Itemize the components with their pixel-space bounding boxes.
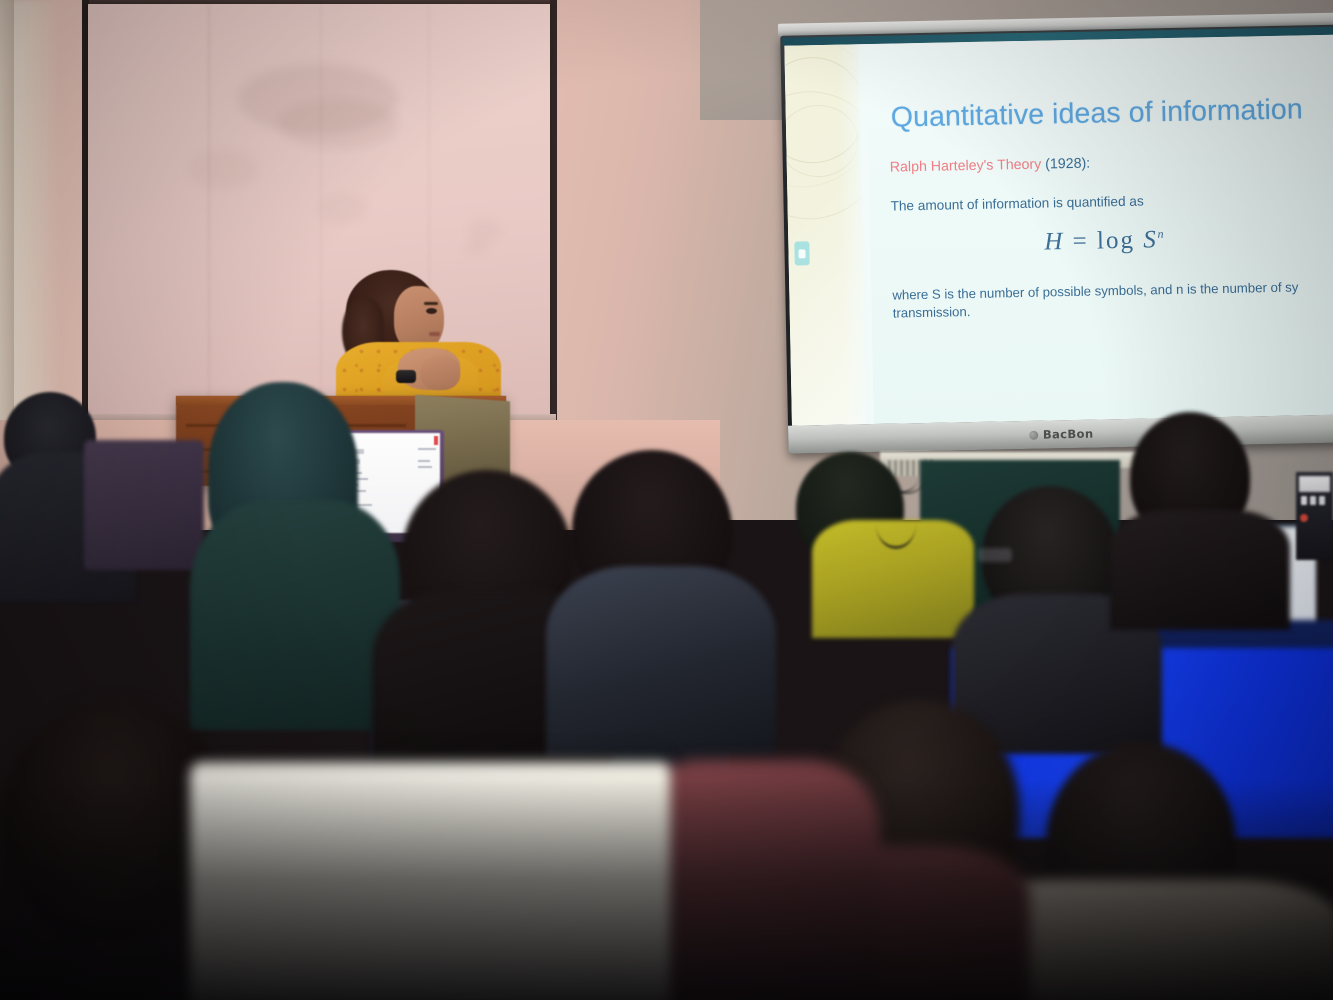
presenter-eye	[426, 308, 437, 314]
photo-canvas: Quantitative ideas of information Ralph …	[0, 0, 1333, 1000]
slide-attribution-highlight: Ralph Harteley's Theory	[890, 157, 1042, 176]
slide-where-line-2: transmission.	[893, 304, 971, 321]
presenter-brow	[424, 302, 438, 305]
slide-attribution-year: (1928):	[1041, 156, 1090, 173]
presenter-hand-upper	[420, 356, 460, 390]
mini-screen-header	[1299, 476, 1330, 492]
slide-intro-line: The amount of information is quantified …	[890, 194, 1143, 214]
slide-attribution: Ralph Harteley's Theory (1928):	[890, 156, 1091, 176]
slide-where-line-1: where S is the number of possible symbol…	[892, 276, 1333, 305]
chair-back-left	[84, 440, 204, 570]
student-body-hijab	[190, 500, 400, 730]
formula-base: S	[1143, 226, 1158, 253]
circle-logo-icon	[1029, 430, 1038, 439]
formula-operator: =	[1072, 228, 1089, 255]
panel-toggle-icon[interactable]	[794, 241, 809, 265]
window-frame	[0, 0, 14, 420]
formula-lhs: H	[1044, 228, 1065, 255]
display-brand-label: BacBon	[1043, 427, 1094, 442]
presenter-mouth	[429, 332, 440, 336]
smart-display[interactable]: Quantitative ideas of information Ralph …	[770, 16, 1333, 457]
slide-formula: H = log Sn	[1044, 226, 1164, 256]
display-panel[interactable]: Quantitative ideas of information Ralph …	[784, 35, 1333, 426]
sidebar-gradient-fade	[836, 44, 874, 425]
lanyard-cord	[876, 500, 916, 549]
formula-exponent: n	[1157, 227, 1163, 241]
presenter-wristwatch	[396, 370, 416, 383]
document-monitor-accent	[434, 436, 438, 445]
slide-title: Quantitative ideas of information	[891, 93, 1304, 134]
formula-function: log	[1097, 227, 1135, 255]
glasses-icon	[978, 548, 1012, 562]
student-body-center	[546, 566, 776, 756]
screen-right-edge	[550, 0, 557, 420]
presentation-slide: Quantitative ideas of information Ralph …	[784, 35, 1333, 426]
foreground-monitor[interactable]	[190, 762, 670, 1000]
student-body-right-tall	[1110, 510, 1290, 630]
